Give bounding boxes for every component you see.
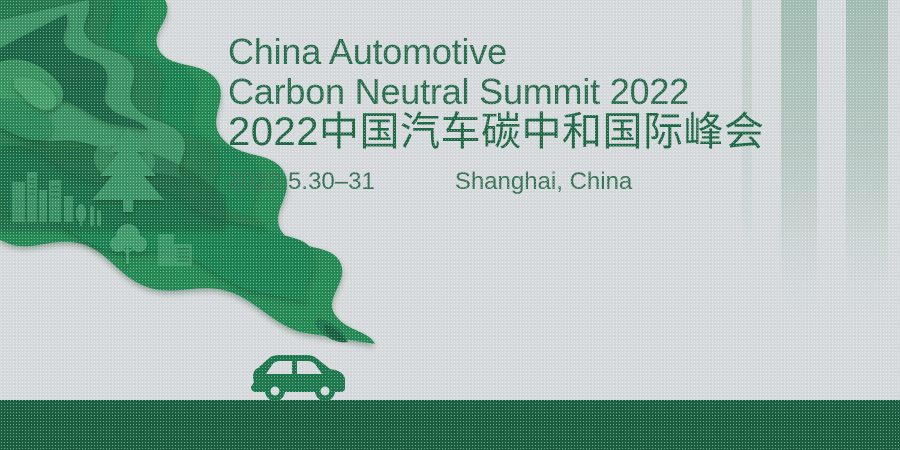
- title-line-2: Carbon Neutral Summit 2022: [228, 72, 764, 112]
- poster-canvas: China Automotive Carbon Neutral Summit 2…: [0, 0, 900, 450]
- bottom-green-band: [0, 400, 900, 450]
- title-chinese: 2022中国汽车碳中和国际峰会: [228, 110, 764, 154]
- event-date: 2022.5.30–31: [228, 168, 375, 196]
- car-silhouette-icon: [246, 348, 350, 404]
- stripe-right: [846, 0, 888, 330]
- event-meta-row: 2022.5.30–31 Shanghai, China: [228, 168, 764, 196]
- title-line-1: China Automotive: [228, 32, 764, 72]
- poster-text-block: China Automotive Carbon Neutral Summit 2…: [228, 32, 764, 196]
- stripe-left: [781, 0, 817, 330]
- event-location: Shanghai, China: [455, 168, 632, 196]
